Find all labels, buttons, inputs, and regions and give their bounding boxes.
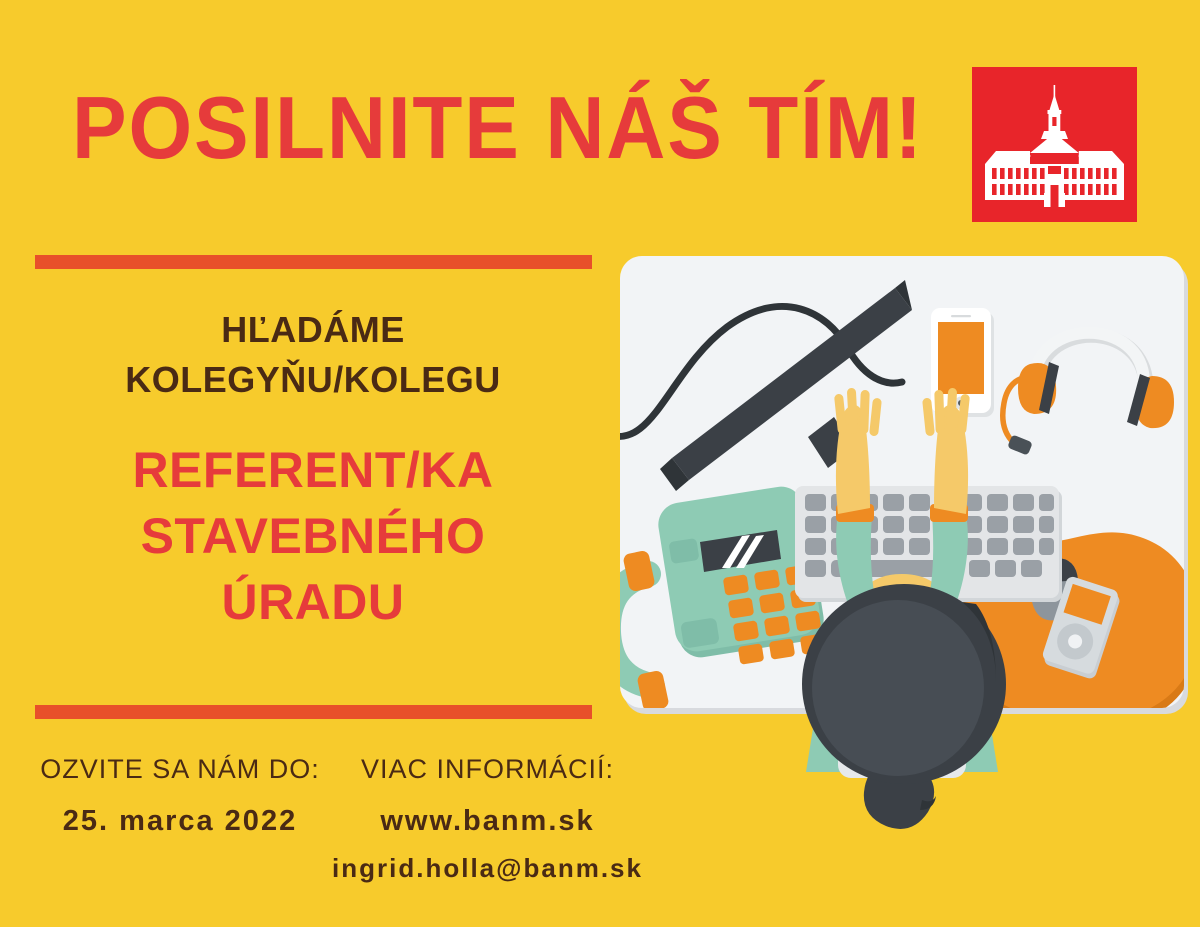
website-link[interactable]: www.banm.sk <box>315 799 660 844</box>
seeking-line-2: KOLEGYŇU/KOLEGU <box>18 355 608 405</box>
deadline-label: OZVITE SA NÁM DO: <box>30 752 330 787</box>
more-info-block: VIAC INFORMÁCIÍ: www.banm.sk ingrid.holl… <box>315 752 660 888</box>
seeking-line-1: HĽADÁME <box>18 305 608 355</box>
workspace-illustration <box>612 252 1192 922</box>
role-line-3: ÚRADU <box>18 569 608 635</box>
town-hall-logo <box>972 67 1137 222</box>
page-title: POSILNITE NÁŠ TÍM! <box>72 84 890 172</box>
deadline-date: 25. marca 2022 <box>30 799 330 844</box>
divider-bottom <box>35 705 592 719</box>
town-hall-building-icon <box>972 67 1137 222</box>
person-head <box>812 600 984 776</box>
role-line-2: STAVEBNÉHO <box>18 503 608 569</box>
deadline-block: OZVITE SA NÁM DO: 25. marca 2022 <box>30 752 330 844</box>
divider-top <box>35 255 592 269</box>
role-block: REFERENT/KA STAVEBNÉHO ÚRADU <box>18 437 608 635</box>
workspace-illustration-svg <box>612 252 1192 922</box>
more-info-label: VIAC INFORMÁCIÍ: <box>315 752 660 787</box>
seeking-block: HĽADÁME KOLEGYŇU/KOLEGU <box>18 305 608 404</box>
email-link[interactable]: ingrid.holla@banm.sk <box>315 848 660 888</box>
role-line-1: REFERENT/KA <box>18 437 608 503</box>
recruitment-poster: POSILNITE NÁŠ TÍM! <box>0 0 1200 927</box>
